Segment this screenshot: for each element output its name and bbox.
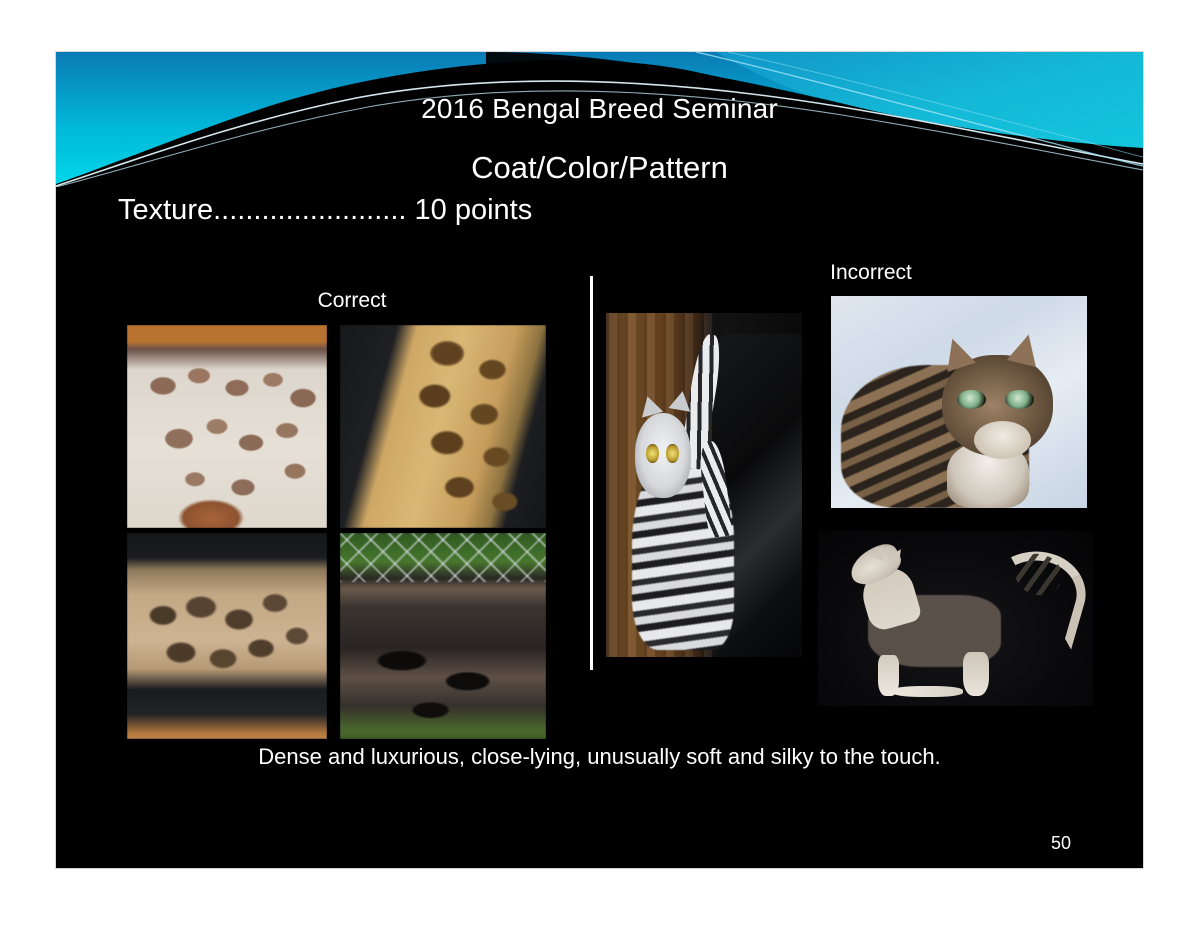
incorrect-column-label: Incorrect [746, 260, 996, 286]
slide-root: 2016 Bengal Breed Seminar Coat/Color/Pat… [0, 0, 1200, 927]
cat-back-leg [963, 652, 989, 696]
cat-eye-right [666, 444, 679, 462]
cat-head [635, 413, 691, 498]
banner-swoosh-svg [56, 52, 1143, 187]
page-number: 50 [1016, 832, 1106, 854]
cat-foot-shadow [892, 686, 963, 697]
correct-photo-1-image [127, 325, 327, 528]
incorrect-photo-1-image [606, 313, 802, 657]
spotted-cat-profile-figure [840, 542, 1077, 700]
slide-caption: Dense and luxurious, close-lying, unusua… [56, 743, 1143, 771]
silver-tabby-cat-figure [624, 368, 765, 650]
correct-photo-1 [127, 325, 327, 528]
cat-ear-right [669, 389, 694, 412]
correct-photo-2 [340, 325, 546, 528]
correct-photo-3-image [127, 533, 327, 739]
correct-photo-2-image [340, 325, 546, 528]
correct-photo-3 [127, 533, 327, 739]
kitten-eye-right [1005, 390, 1034, 409]
incorrect-photo-2 [831, 296, 1087, 508]
incorrect-photo-3-image [818, 531, 1093, 706]
incorrect-photo-1 [606, 313, 802, 657]
incorrect-photo-3 [818, 531, 1093, 706]
presentation-slide: 2016 Bengal Breed Seminar Coat/Color/Pat… [56, 52, 1143, 868]
criterion-line: Texture........................ 10 point… [118, 192, 1118, 228]
header-banner-decoration [56, 52, 1143, 187]
tabby-kitten-figure [841, 334, 1082, 508]
column-divider [590, 276, 593, 670]
correct-photo-4 [340, 533, 546, 739]
kitten-eye-left [957, 390, 986, 409]
correct-photo-4-image [340, 533, 546, 739]
cat-eye-left [646, 444, 659, 462]
correct-column-label: Correct [227, 288, 477, 314]
incorrect-photo-2-image [831, 296, 1087, 508]
